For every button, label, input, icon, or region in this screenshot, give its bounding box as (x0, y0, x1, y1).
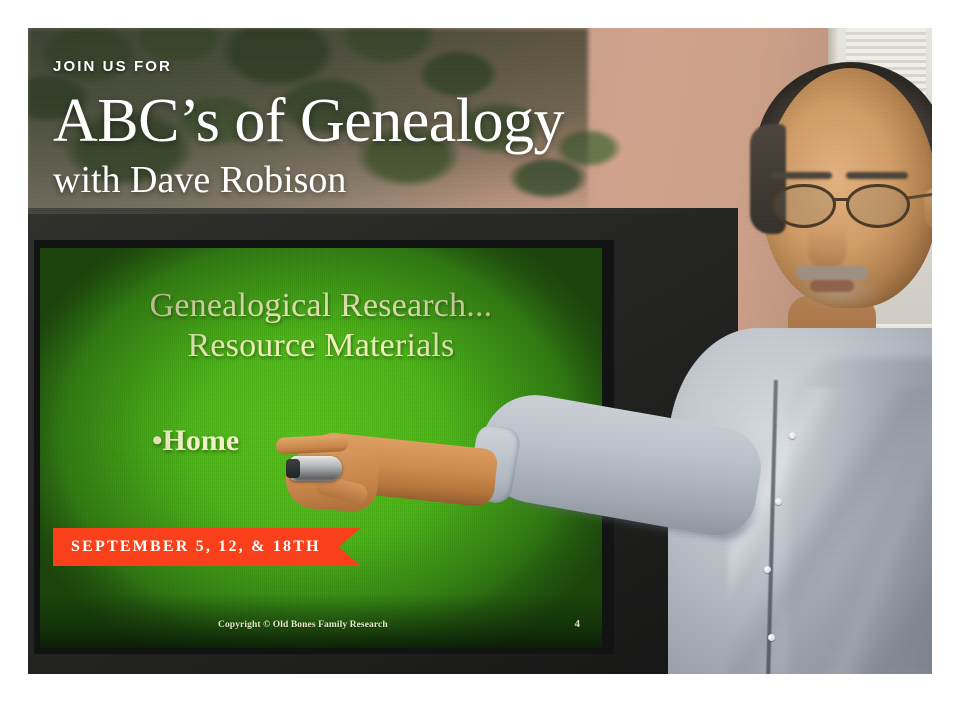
shirt-button (768, 634, 775, 641)
promo-subhead: with Dave Robison (53, 160, 346, 202)
presenter-eyebrow (770, 172, 832, 179)
promo-headline: ABC’s of Genealogy (53, 90, 564, 153)
shirt-shading (788, 358, 932, 674)
shirt-button (775, 498, 782, 505)
promo-kicker: JOIN US FOR (53, 58, 172, 75)
remote-tip (286, 459, 300, 478)
eyeglass-temple (908, 192, 932, 200)
poster-canvas: Genealogical Research... Resource Materi… (0, 0, 960, 714)
presenter-nose (808, 226, 846, 270)
eyeglass-lens (772, 184, 836, 228)
eyeglass-lens (846, 184, 910, 228)
presenter-mustache (796, 266, 868, 280)
presenter-mouth (810, 280, 854, 292)
shirt-button (764, 566, 771, 573)
presenter-eyebrow (846, 172, 908, 179)
date-ribbon: SEPTEMBER 5, 12, & 18TH (53, 528, 361, 566)
shirt-button (789, 432, 796, 439)
eyeglasses-icon (768, 184, 932, 230)
